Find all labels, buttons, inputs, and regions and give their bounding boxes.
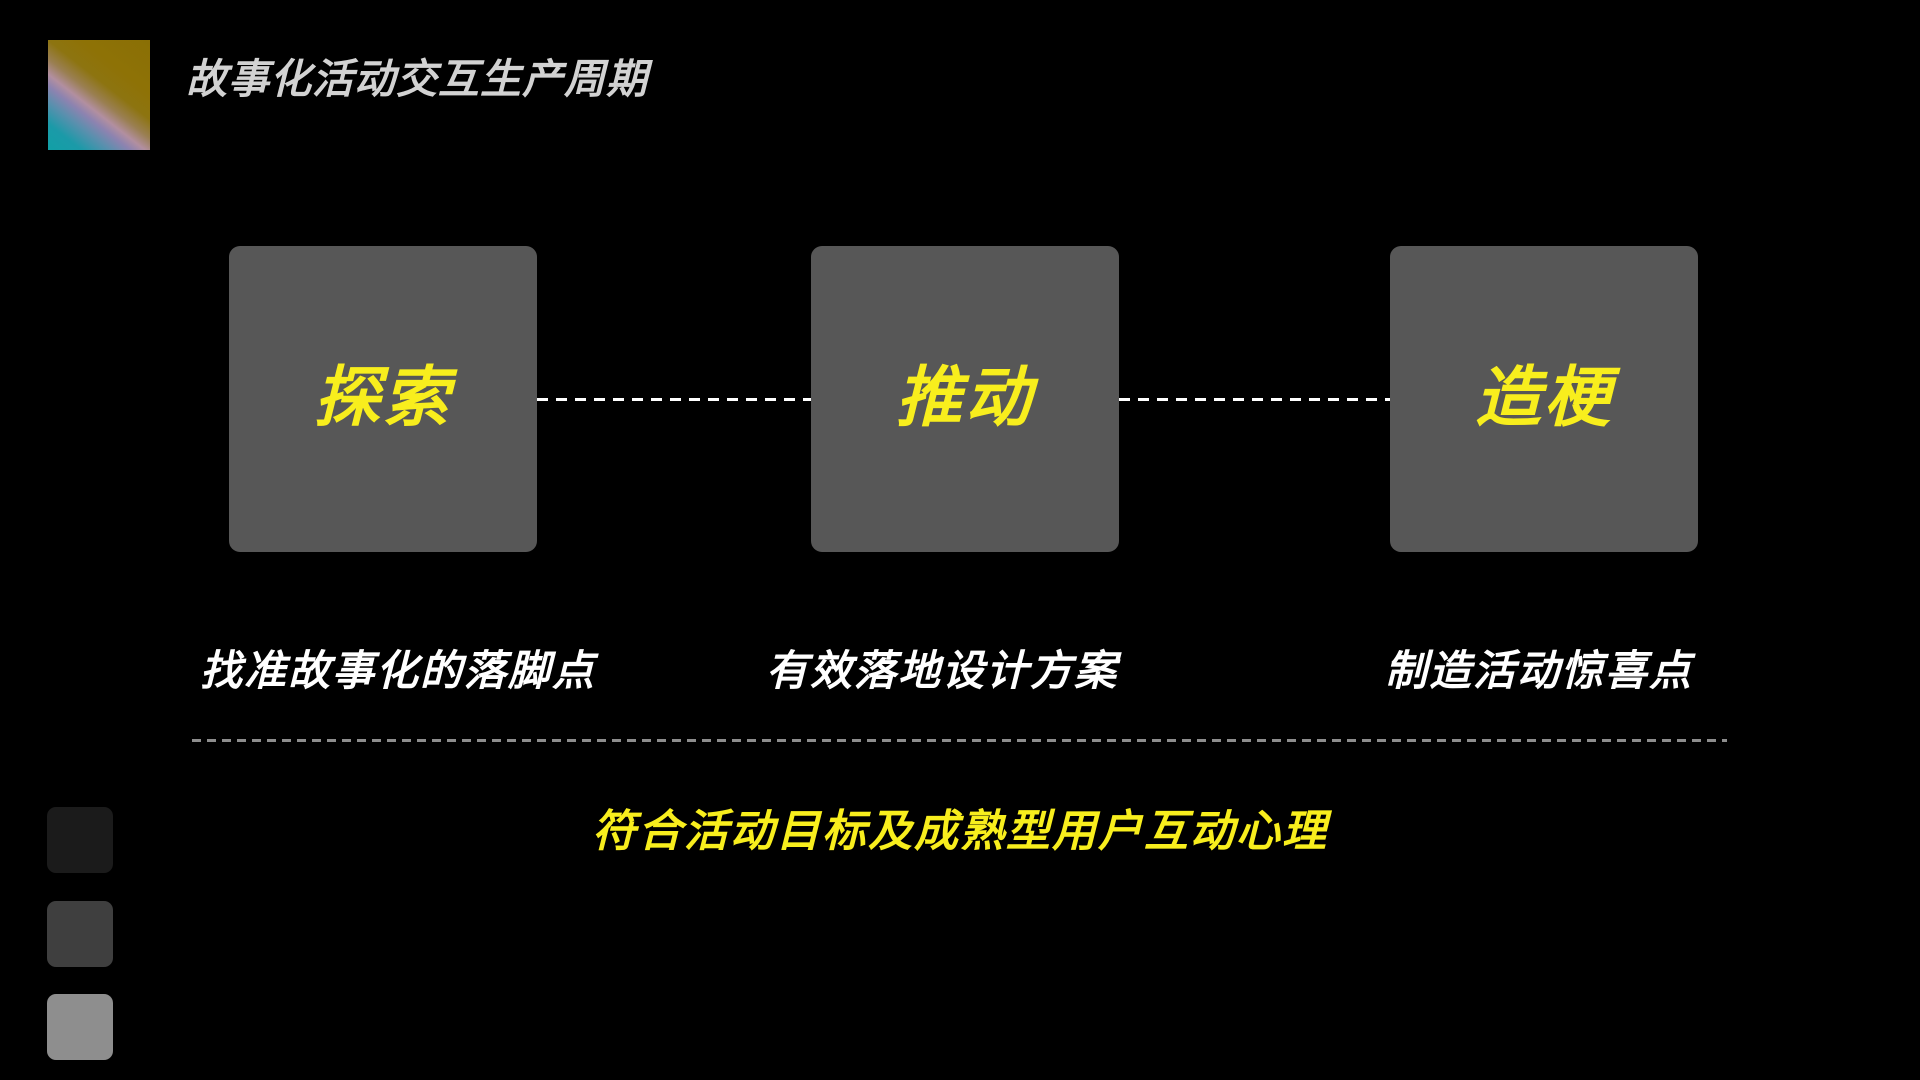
flow-diagram: 探索 推动 造梗 (0, 246, 1920, 552)
stage-caption-row: 找准故事化的落脚点 有效落地设计方案 制造活动惊喜点 (0, 640, 1920, 710)
stage-caption: 找准故事化的落脚点 (200, 640, 596, 702)
stage-caption: 有效落地设计方案 (766, 640, 1118, 702)
conclusion-text: 符合活动目标及成熟型用户互动心理 (0, 800, 1920, 864)
slide-header: 故事化活动交互生产周期 (0, 0, 1920, 160)
color-swatch-stack (47, 807, 113, 1060)
presentation-slide: 故事化活动交互生产周期 探索 推动 造梗 找准故事化的落脚点 有效落地设计方案 … (0, 0, 1920, 1080)
color-swatch-light (47, 994, 113, 1060)
stage-label: 造梗 (1475, 364, 1613, 430)
connector-dashed-2 (1119, 398, 1390, 401)
stage-box-meme[interactable]: 造梗 (1390, 246, 1698, 552)
connector-dashed-1 (537, 398, 811, 401)
stage-caption: 制造活动惊喜点 (1385, 640, 1693, 702)
stage-box-explore[interactable]: 探索 (229, 246, 537, 552)
color-swatch-darkest (47, 807, 113, 873)
stage-label: 推动 (896, 364, 1034, 430)
stage-label: 探索 (314, 364, 452, 430)
color-swatch-mid (47, 901, 113, 967)
page-title: 故事化活动交互生产周期 (186, 50, 648, 108)
gradient-logo-mark-icon (48, 40, 150, 150)
section-divider (192, 739, 1727, 742)
stage-box-drive[interactable]: 推动 (811, 246, 1119, 552)
